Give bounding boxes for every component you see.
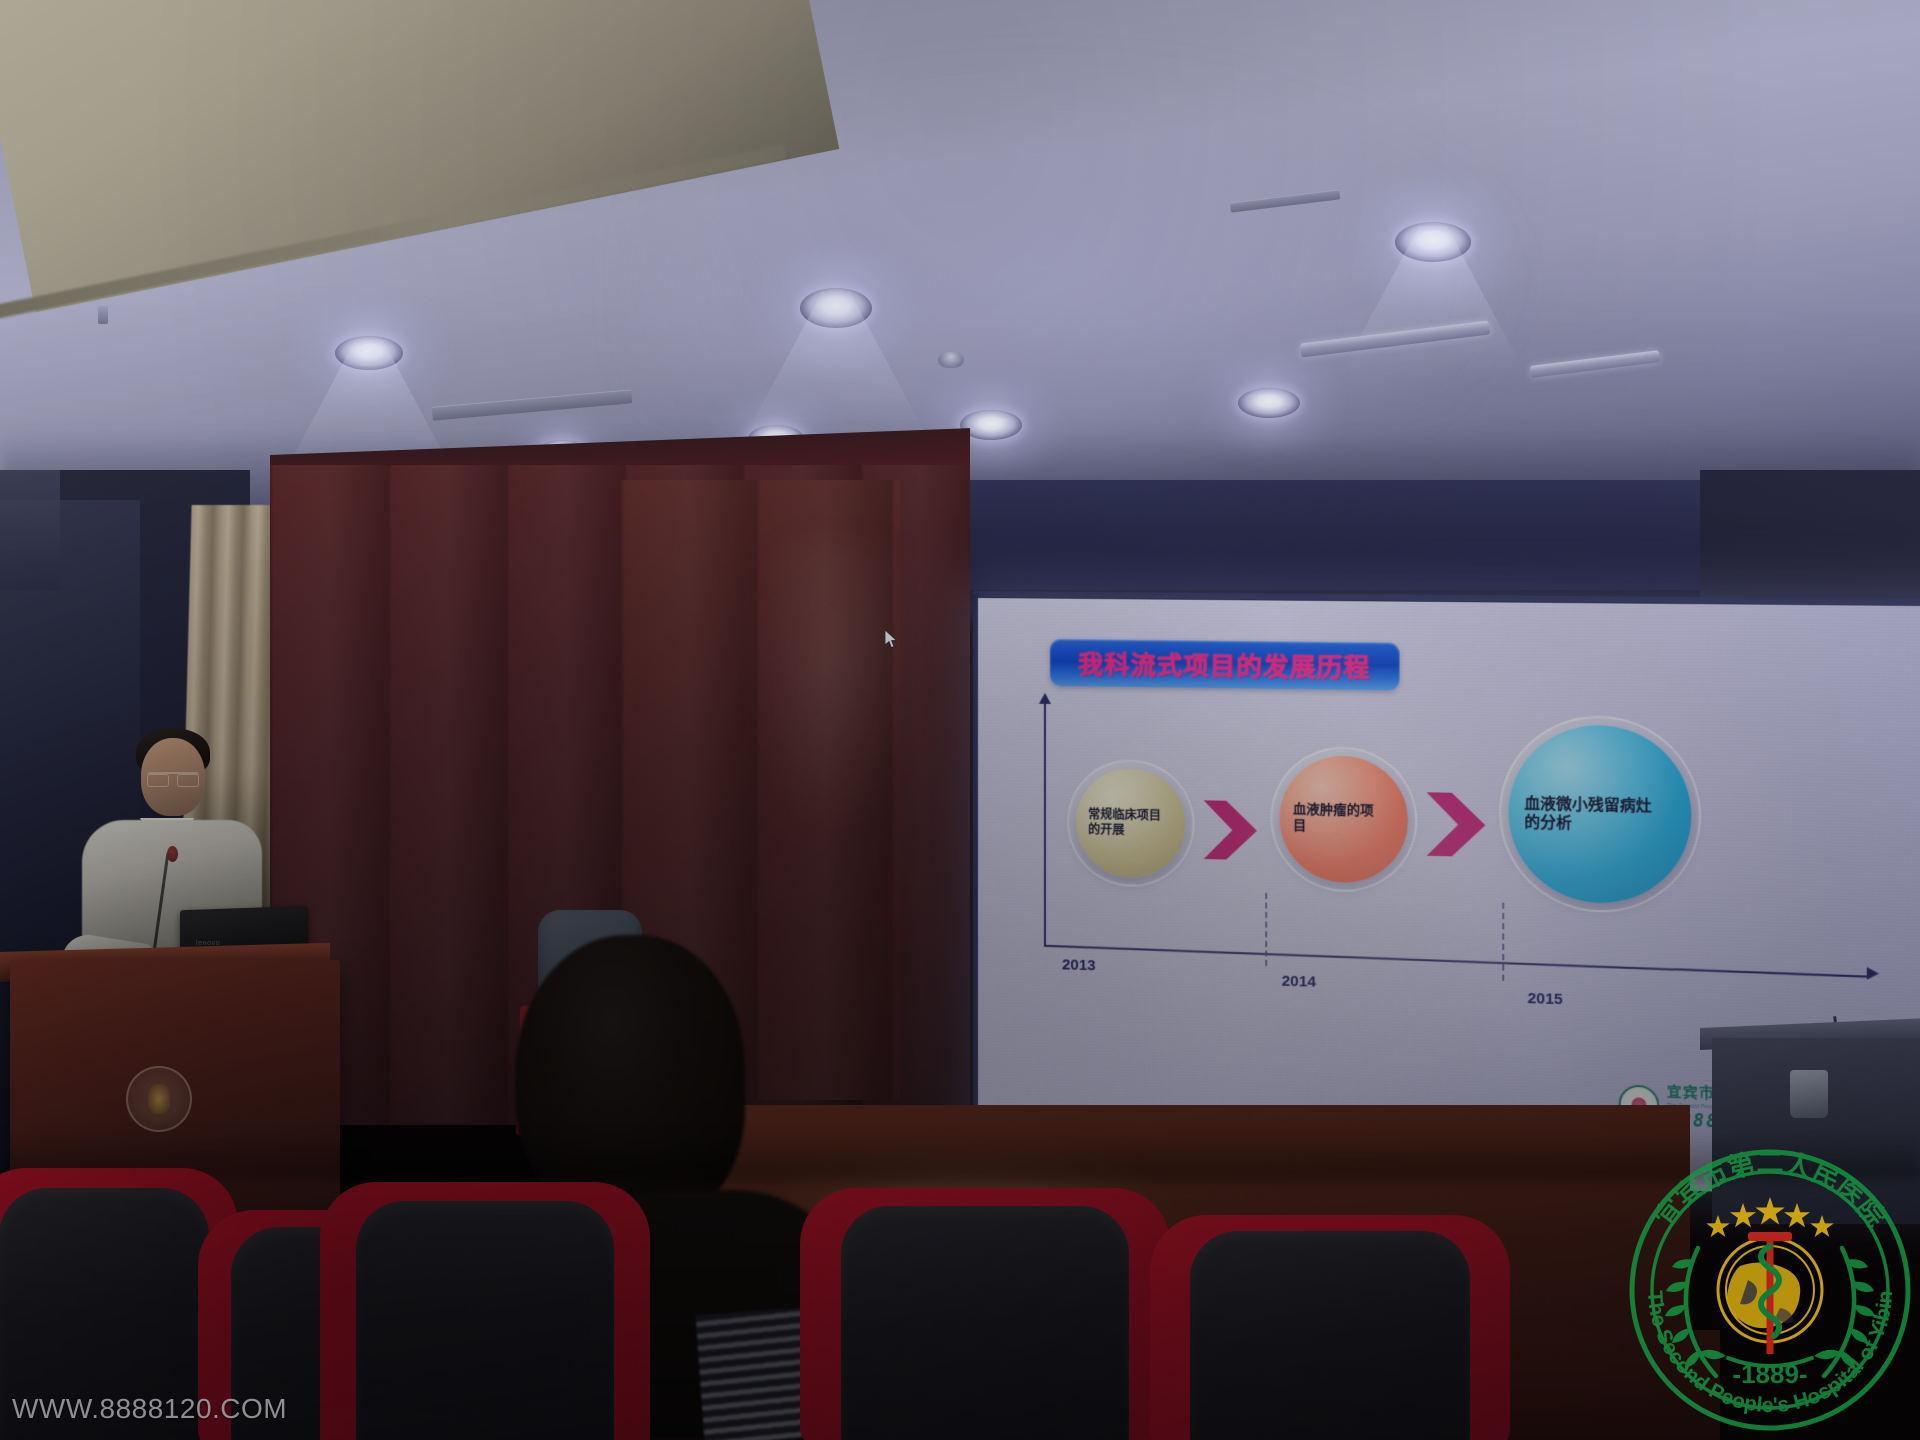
watermark-logo-year: -1889- — [1732, 1359, 1807, 1389]
y-axis — [1044, 701, 1046, 947]
year-label-2013: 2013 — [1062, 956, 1096, 974]
auditorium-seat — [320, 1182, 650, 1440]
year-label-2015: 2015 — [1527, 990, 1562, 1009]
timeline-node-2: 血液肿瘤的项 目 — [1280, 755, 1408, 884]
podium-hospital-crest-icon — [126, 1066, 192, 1132]
x-axis-tick-2014 — [1265, 893, 1267, 966]
ceiling-downlight-icon — [1238, 388, 1300, 418]
ceiling-downlight-icon — [800, 288, 872, 328]
x-axis — [1044, 945, 1871, 978]
arrow-chevron-icon — [1202, 798, 1259, 862]
svg-text:宜宾市第二人民医院: 宜宾市第二人民医院 — [1648, 1148, 1891, 1233]
x-axis-arrow-icon — [1867, 967, 1879, 980]
node-3-label: 血液微小残留病灶 的分析 — [1524, 794, 1675, 835]
glasses-icon — [147, 772, 199, 785]
x-axis-tick-2015 — [1502, 903, 1504, 981]
smoke-detector-icon — [938, 352, 964, 368]
node-2-label: 血液肿瘤的项 目 — [1293, 802, 1394, 836]
watermark-url: WWW.8888120.COM — [12, 1393, 287, 1425]
year-label-2014: 2014 — [1282, 973, 1316, 991]
side-lectern-cup — [1790, 1070, 1828, 1118]
mouse-cursor-icon — [885, 630, 899, 654]
slide-title-banner: 我科流式项目的发展历程 — [1050, 639, 1400, 691]
ceiling-downlight-icon — [1395, 222, 1471, 262]
screenshot-root: 我科流式项目的发展历程 常规临床项目 的开展 — [0, 0, 1920, 1440]
auditorium-seat — [800, 1188, 1170, 1440]
watermark-hospital-logo: 宜宾市第二人民医院 The Second People's Hospital o… — [1620, 1140, 1920, 1440]
wall-light-reflection — [750, 540, 920, 840]
arrow-chevron-icon — [1425, 790, 1488, 859]
sprinkler-icon — [98, 306, 108, 324]
left-wall-panel-upper — [0, 470, 60, 590]
node-1-label: 常规临床项目 的开展 — [1088, 808, 1175, 839]
slide-title: 我科流式项目的发展历程 — [1078, 645, 1370, 685]
microphone-icon — [167, 846, 178, 862]
timeline-node-3: 血液微小残留病灶 的分析 — [1509, 724, 1692, 905]
ceiling-downlight-icon — [335, 336, 403, 370]
timeline-node-1: 常规临床项目 的开展 — [1076, 768, 1185, 879]
auditorium-seat — [1150, 1215, 1510, 1440]
